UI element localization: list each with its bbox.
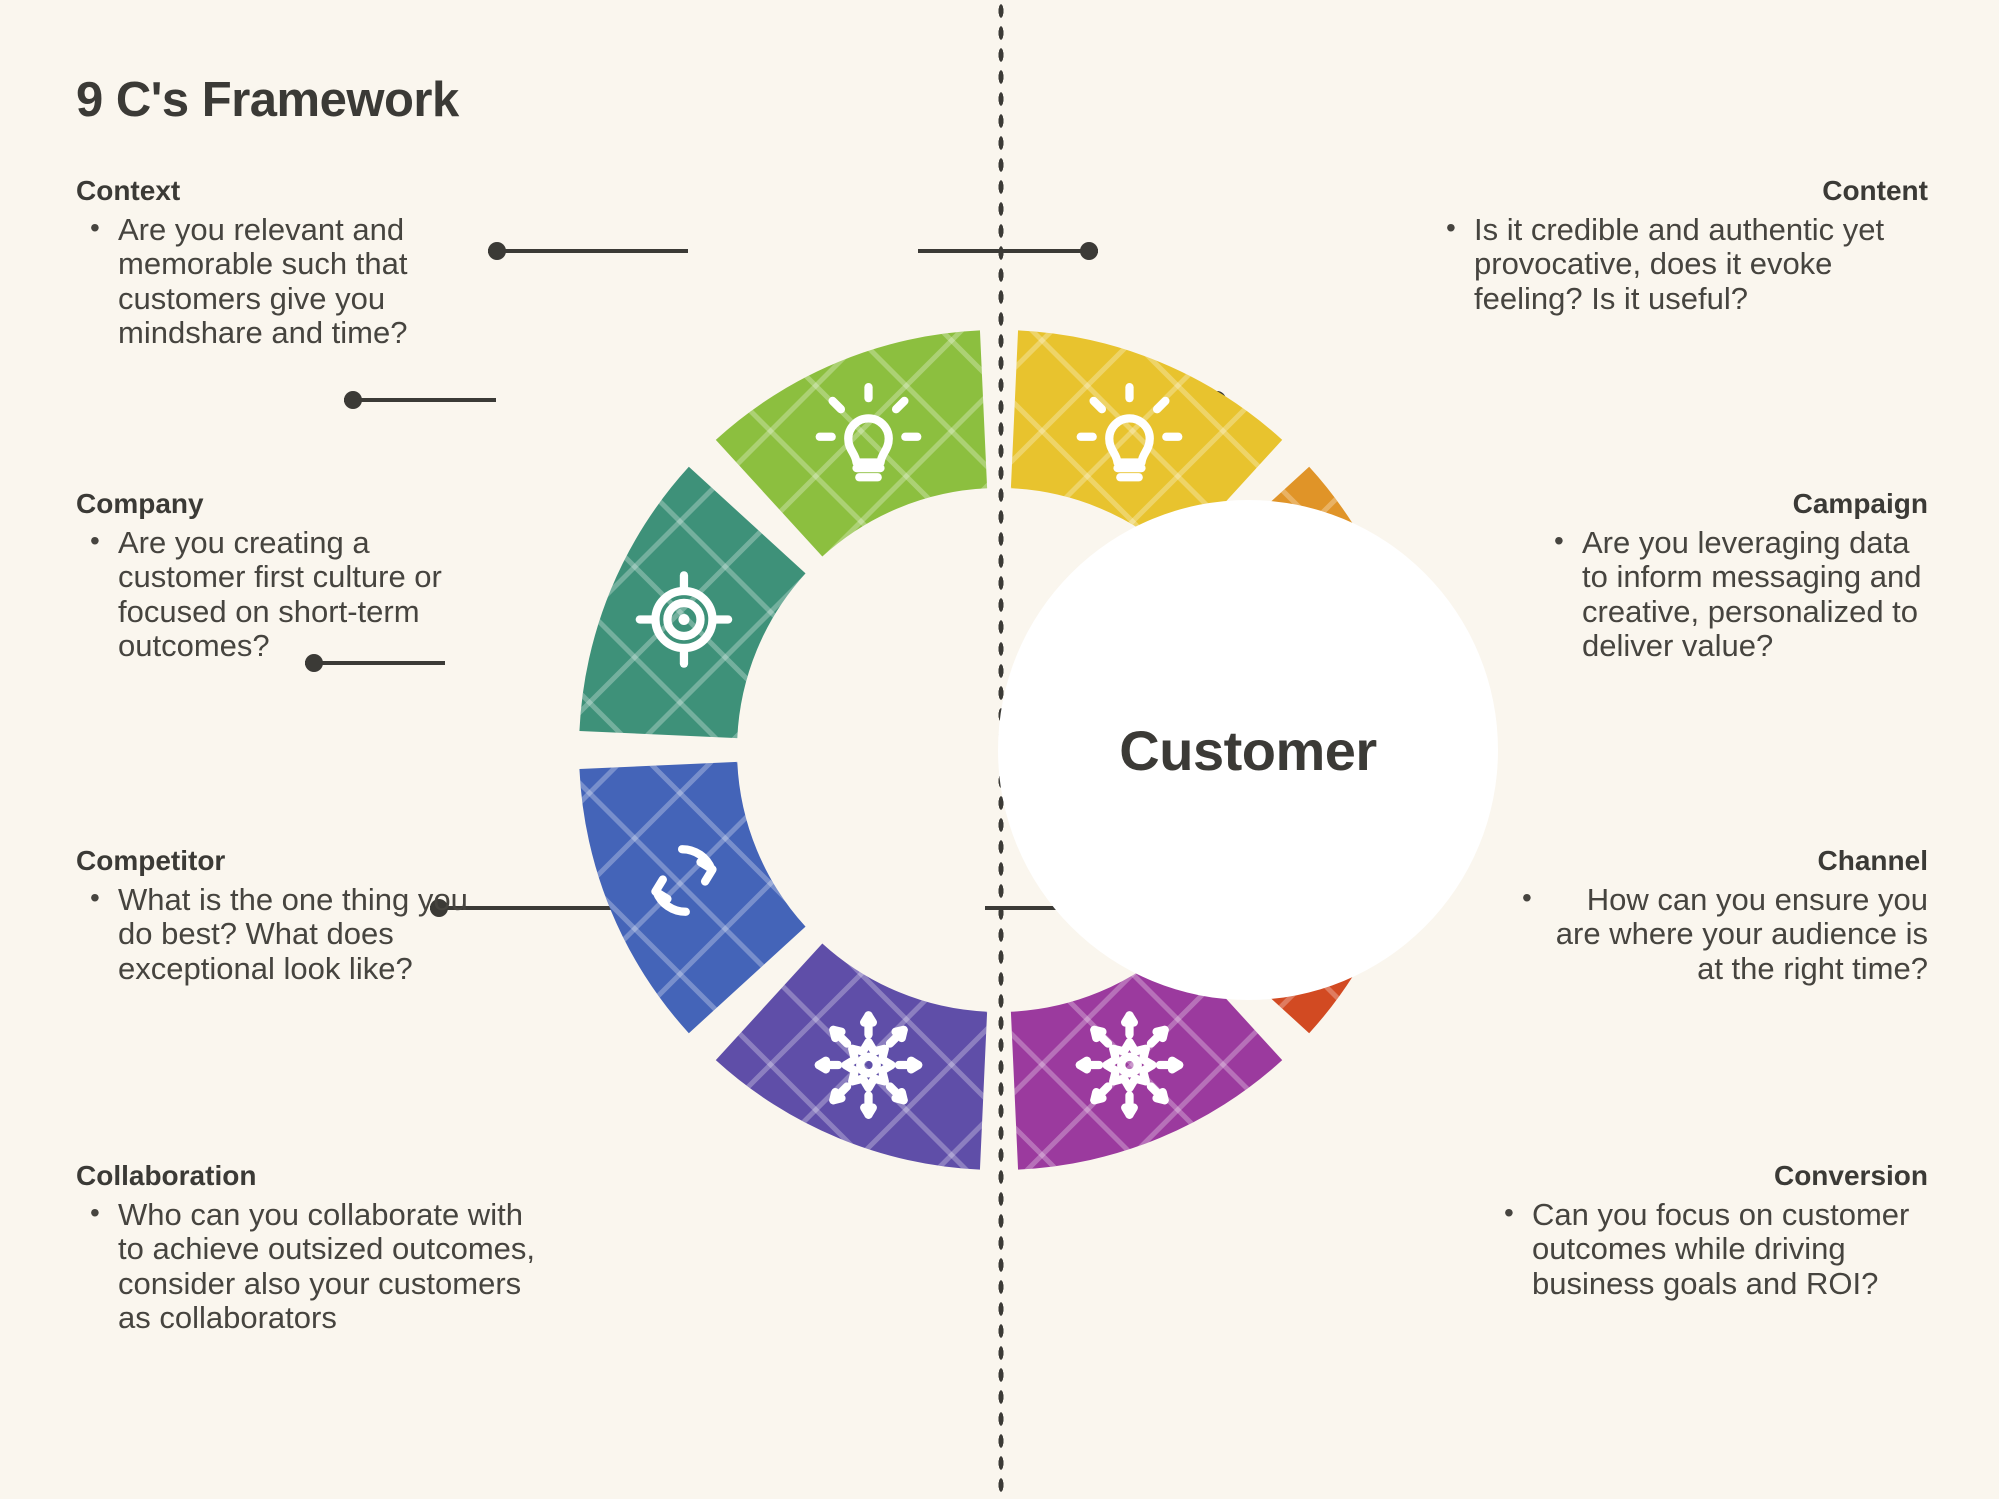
- section-heading-competitor: Competitor: [76, 845, 476, 877]
- bullet-item: Are you creating a customer first cultur…: [76, 526, 496, 664]
- segment-hatch-overlay: [579, 762, 805, 1033]
- section-heading-campaign: Campaign: [1540, 488, 1928, 520]
- section-heading-content: Content: [1432, 175, 1928, 207]
- section-heading-company: Company: [76, 488, 496, 520]
- section-company: Company Are you creating a customer firs…: [76, 488, 496, 664]
- section-heading-channel: Channel: [1508, 845, 1928, 877]
- bullet-item: What is the one thing you do best? What …: [76, 883, 476, 986]
- bullet-item: Can you focus on customer outcomes while…: [1490, 1198, 1928, 1301]
- section-content: Content Is it credible and authentic yet…: [1432, 175, 1928, 316]
- bullet-item: How can you ensure you are where your au…: [1508, 883, 1928, 986]
- leader-line-company: [344, 398, 496, 402]
- bullet-item: Is it credible and authentic yet provoca…: [1432, 213, 1928, 316]
- bullet-item: Who can you collaborate with to achieve …: [76, 1198, 536, 1336]
- section-bullets-conversion: Can you focus on customer outcomes while…: [1490, 1198, 1928, 1301]
- section-bullets-content: Is it credible and authentic yet provoca…: [1432, 213, 1928, 316]
- section-heading-collaboration: Collaboration: [76, 1160, 536, 1192]
- bullet-item: Are you leveraging data to inform messag…: [1540, 526, 1928, 664]
- page-title: 9 C's Framework: [76, 72, 459, 128]
- section-bullets-company: Are you creating a customer first cultur…: [76, 526, 496, 664]
- section-heading-context: Context: [76, 175, 476, 207]
- framework-wheel: Customer: [499, 250, 1499, 1250]
- section-conversion: Conversion Can you focus on customer out…: [1490, 1160, 1928, 1301]
- section-bullets-campaign: Are you leveraging data to inform messag…: [1540, 526, 1928, 664]
- section-channel: Channel How can you ensure you are where…: [1508, 845, 1928, 986]
- section-bullets-channel: How can you ensure you are where your au…: [1508, 883, 1928, 986]
- section-bullets-competitor: What is the one thing you do best? What …: [76, 883, 476, 986]
- section-campaign: Campaign Are you leveraging data to info…: [1540, 488, 1928, 664]
- section-context: Context Are you relevant and memorable s…: [76, 175, 476, 351]
- section-collaboration: Collaboration Who can you collaborate wi…: [76, 1160, 536, 1336]
- section-bullets-collaboration: Who can you collaborate with to achieve …: [76, 1198, 536, 1336]
- section-competitor: Competitor What is the one thing you do …: [76, 845, 476, 986]
- center-label: Customer: [1119, 718, 1376, 783]
- leader-knob: [344, 391, 362, 409]
- section-heading-conversion: Conversion: [1490, 1160, 1928, 1192]
- center-hub: Customer: [998, 500, 1498, 1000]
- infographic-canvas: 9 C's Framework: [0, 0, 1999, 1499]
- section-bullets-context: Are you relevant and memorable such that…: [76, 213, 476, 351]
- bullet-item: Are you relevant and memorable such that…: [76, 213, 476, 351]
